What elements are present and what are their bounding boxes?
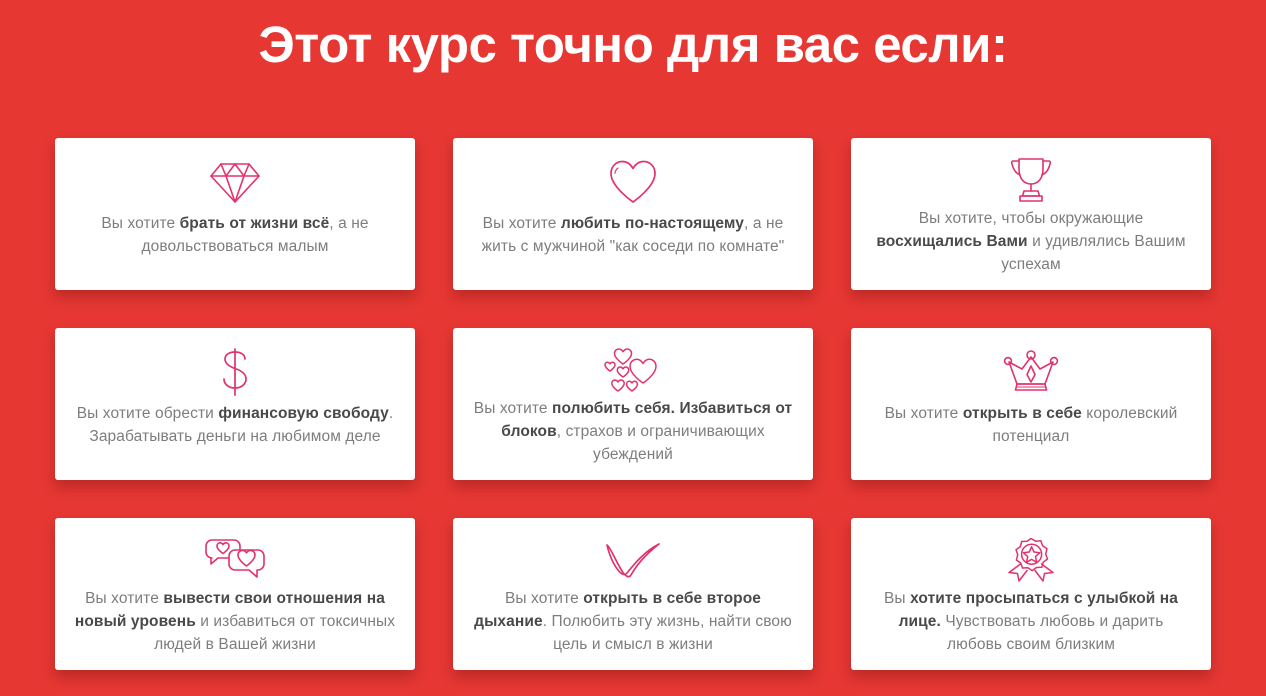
trophy-icon (1009, 154, 1053, 205)
heart-icon (608, 154, 658, 210)
hearts-cluster-icon (604, 344, 662, 395)
benefits-card-grid: Вы хотите брать от жизни всё, а не довол… (55, 138, 1211, 670)
benefit-text: Вы хотите полюбить себя. Избавиться от б… (471, 397, 795, 466)
award-rosette-icon (1006, 534, 1056, 585)
benefit-text: Вы хотите вывести свои отношения на новы… (73, 587, 397, 656)
crown-icon (1004, 344, 1058, 400)
benefit-text: Вы хотите обрести финансовую свободу. За… (73, 402, 397, 448)
diamond-icon (209, 154, 261, 210)
benefit-card[interactable]: Вы хотите обрести финансовую свободу. За… (55, 328, 415, 480)
benefit-card[interactable]: Вы хотите открыть в себе королевский пот… (851, 328, 1211, 480)
benefit-text: Вы хотите открыть в себе королевский пот… (869, 402, 1193, 448)
benefit-card[interactable]: Вы хотите просыпаться с улыбкой на лице.… (851, 518, 1211, 670)
benefit-card[interactable]: Вы хотите вывести свои отношения на новы… (55, 518, 415, 670)
benefit-card[interactable]: Вы хотите любить по-настоящему, а не жит… (453, 138, 813, 290)
benefit-card[interactable]: Вы хотите, чтобы окружающие восхищались … (851, 138, 1211, 290)
benefit-text: Вы хотите открыть в себе второе дыхание.… (471, 587, 795, 656)
benefit-card[interactable]: Вы хотите открыть в себе второе дыхание.… (453, 518, 813, 670)
benefit-card[interactable]: Вы хотите брать от жизни всё, а не довол… (55, 138, 415, 290)
benefit-card[interactable]: Вы хотите полюбить себя. Избавиться от б… (453, 328, 813, 480)
promo-section: Этот курс точно для вас если: Вы хотите … (0, 0, 1266, 696)
benefit-text: Вы хотите любить по-настоящему, а не жит… (471, 212, 795, 258)
chat-hearts-icon (204, 534, 266, 585)
page-title: Этот курс точно для вас если: (0, 14, 1266, 76)
benefit-text: Вы хотите, чтобы окружающие восхищались … (869, 207, 1193, 276)
benefit-text: Вы хотите брать от жизни всё, а не довол… (73, 212, 397, 258)
benefit-text: Вы хотите просыпаться с улыбкой на лице.… (869, 587, 1193, 656)
dollar-icon (218, 344, 252, 400)
checkmark-icon (605, 534, 661, 585)
